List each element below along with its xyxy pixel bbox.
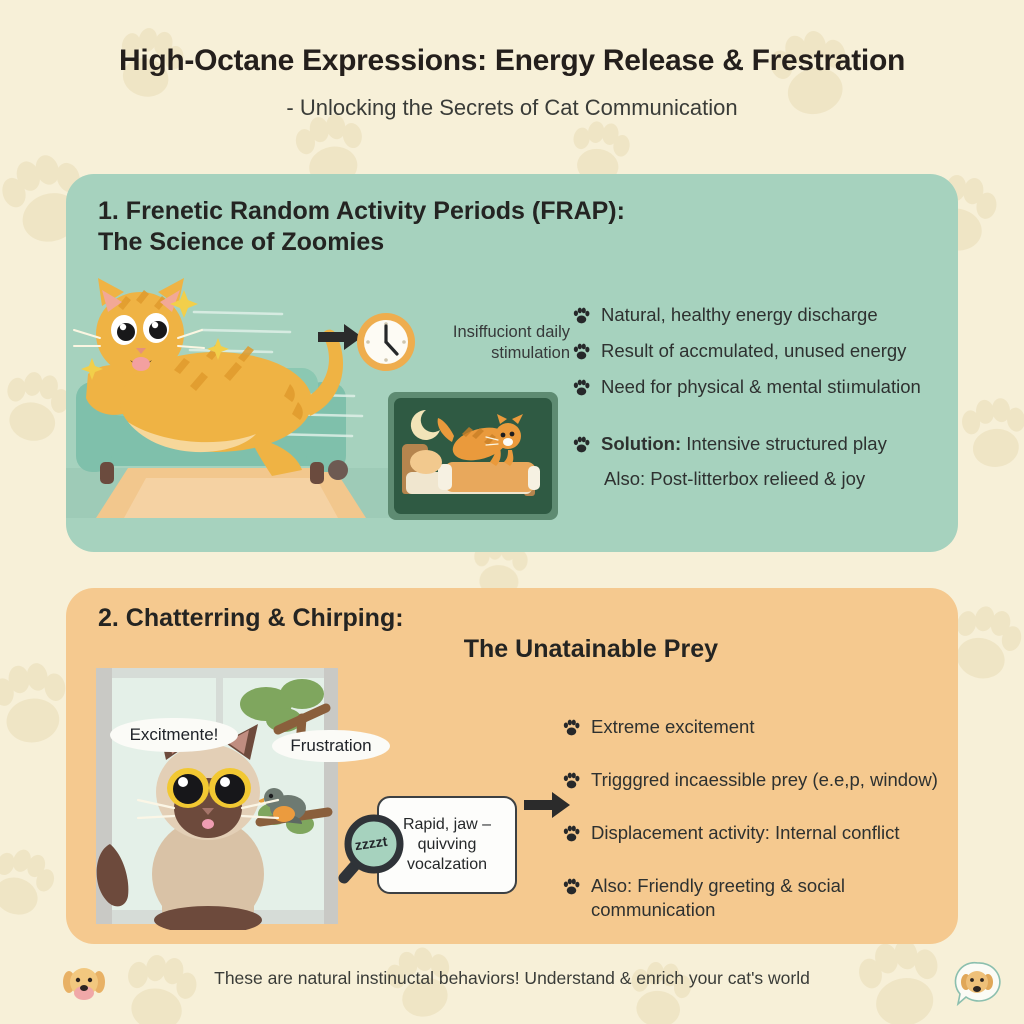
frap-also-text: Also: Post-litterbox relieed & joy	[604, 468, 865, 490]
chat-heading-line2: The Unatainable Prey	[98, 634, 718, 665]
list-item-label: Result of accmulated, unused energy	[601, 339, 906, 362]
paw-print-icon	[562, 771, 581, 790]
frap-heading-line1: 1. Frenetic Random Activity Periods	[98, 197, 525, 225]
clock-caption-line1: Insiffuciont daily	[453, 323, 570, 341]
clock-caption: Insiffuciont daily stimulation	[420, 322, 570, 365]
frap-solution-row: Solution: Intensive structured play	[572, 432, 972, 455]
clock-icon	[356, 312, 416, 372]
list-item: Also: Friendly greeting & social communi…	[562, 874, 962, 920]
siamese-cat-at-window-illustration	[88, 662, 356, 930]
list-item: Trigggred incaessible prey (e.e,p, windo…	[562, 768, 962, 791]
list-item: Need for physical & mental stiımulation	[572, 375, 962, 398]
list-item-label: Also: Friendly greeting & social communi…	[591, 874, 962, 920]
list-item: Solution: Intensive structured play	[572, 432, 972, 455]
paw-print-icon	[562, 718, 581, 737]
list-item-label: Extreme excitement	[591, 715, 754, 738]
solution-text: Solution: Intensive structured play	[601, 432, 887, 455]
page-title: High-Octane Expressions: Energy Release …	[0, 44, 1024, 78]
list-item: Natural, healthy energy discharge	[572, 303, 962, 326]
paw-print-icon	[572, 435, 591, 454]
cat-leaping-on-bed-inset-illustration	[388, 392, 558, 520]
list-item-label: Displacement activity: Internal conflict	[591, 821, 899, 844]
list-item-label: Trigggred incaessible prey (e.e,p, windo…	[591, 768, 938, 791]
solution-label: Solution:	[601, 433, 681, 454]
speech-bubble-excitement: Excitmente!	[110, 718, 238, 752]
section-heading-chattering: 2. Chatterring & Chirping: The Unatainab…	[98, 603, 718, 665]
section-heading-frap: 1. Frenetic Random Activity Periods (FRA…	[98, 196, 658, 258]
list-item-label: Natural, healthy energy discharge	[601, 303, 878, 326]
footer-text: These are natural instinuctal behaviors!…	[0, 968, 1024, 989]
cat-leaping-over-couch-illustration	[66, 272, 396, 518]
list-item: Extreme excitement	[562, 715, 962, 738]
bubble-excitement-label: Excitmente!	[130, 725, 219, 745]
paw-print-icon	[562, 877, 581, 896]
list-item-label: Need for physical & mental stiımulation	[601, 375, 921, 398]
bubble-frustration-label: Frustration	[290, 736, 371, 756]
speech-bubble-frustration: Frustration	[272, 730, 390, 762]
clock-caption-line2: stimulation	[491, 344, 570, 362]
dog-face-speech-bubble-icon	[954, 960, 1002, 1008]
list-item: Result of accmulated, unused energy	[572, 339, 962, 362]
list-item: Displacement activity: Internal conflict	[562, 821, 962, 844]
frap-bullet-list: Natural, healthy energy discharge Result…	[572, 303, 962, 411]
paw-print-icon	[572, 306, 591, 325]
paw-print-icon	[572, 378, 591, 397]
solution-detail: Intensive structured play	[681, 433, 887, 454]
page-subtitle: - Unlocking the Secrets of Cat Communica…	[0, 95, 1024, 121]
chat-heading-line1: 2. Chatterring & Chirping:	[98, 604, 404, 632]
chattering-bullet-list: Extreme excitement Trigggred incaessible…	[562, 715, 962, 951]
paw-print-icon	[562, 824, 581, 843]
paw-print-icon	[572, 342, 591, 361]
